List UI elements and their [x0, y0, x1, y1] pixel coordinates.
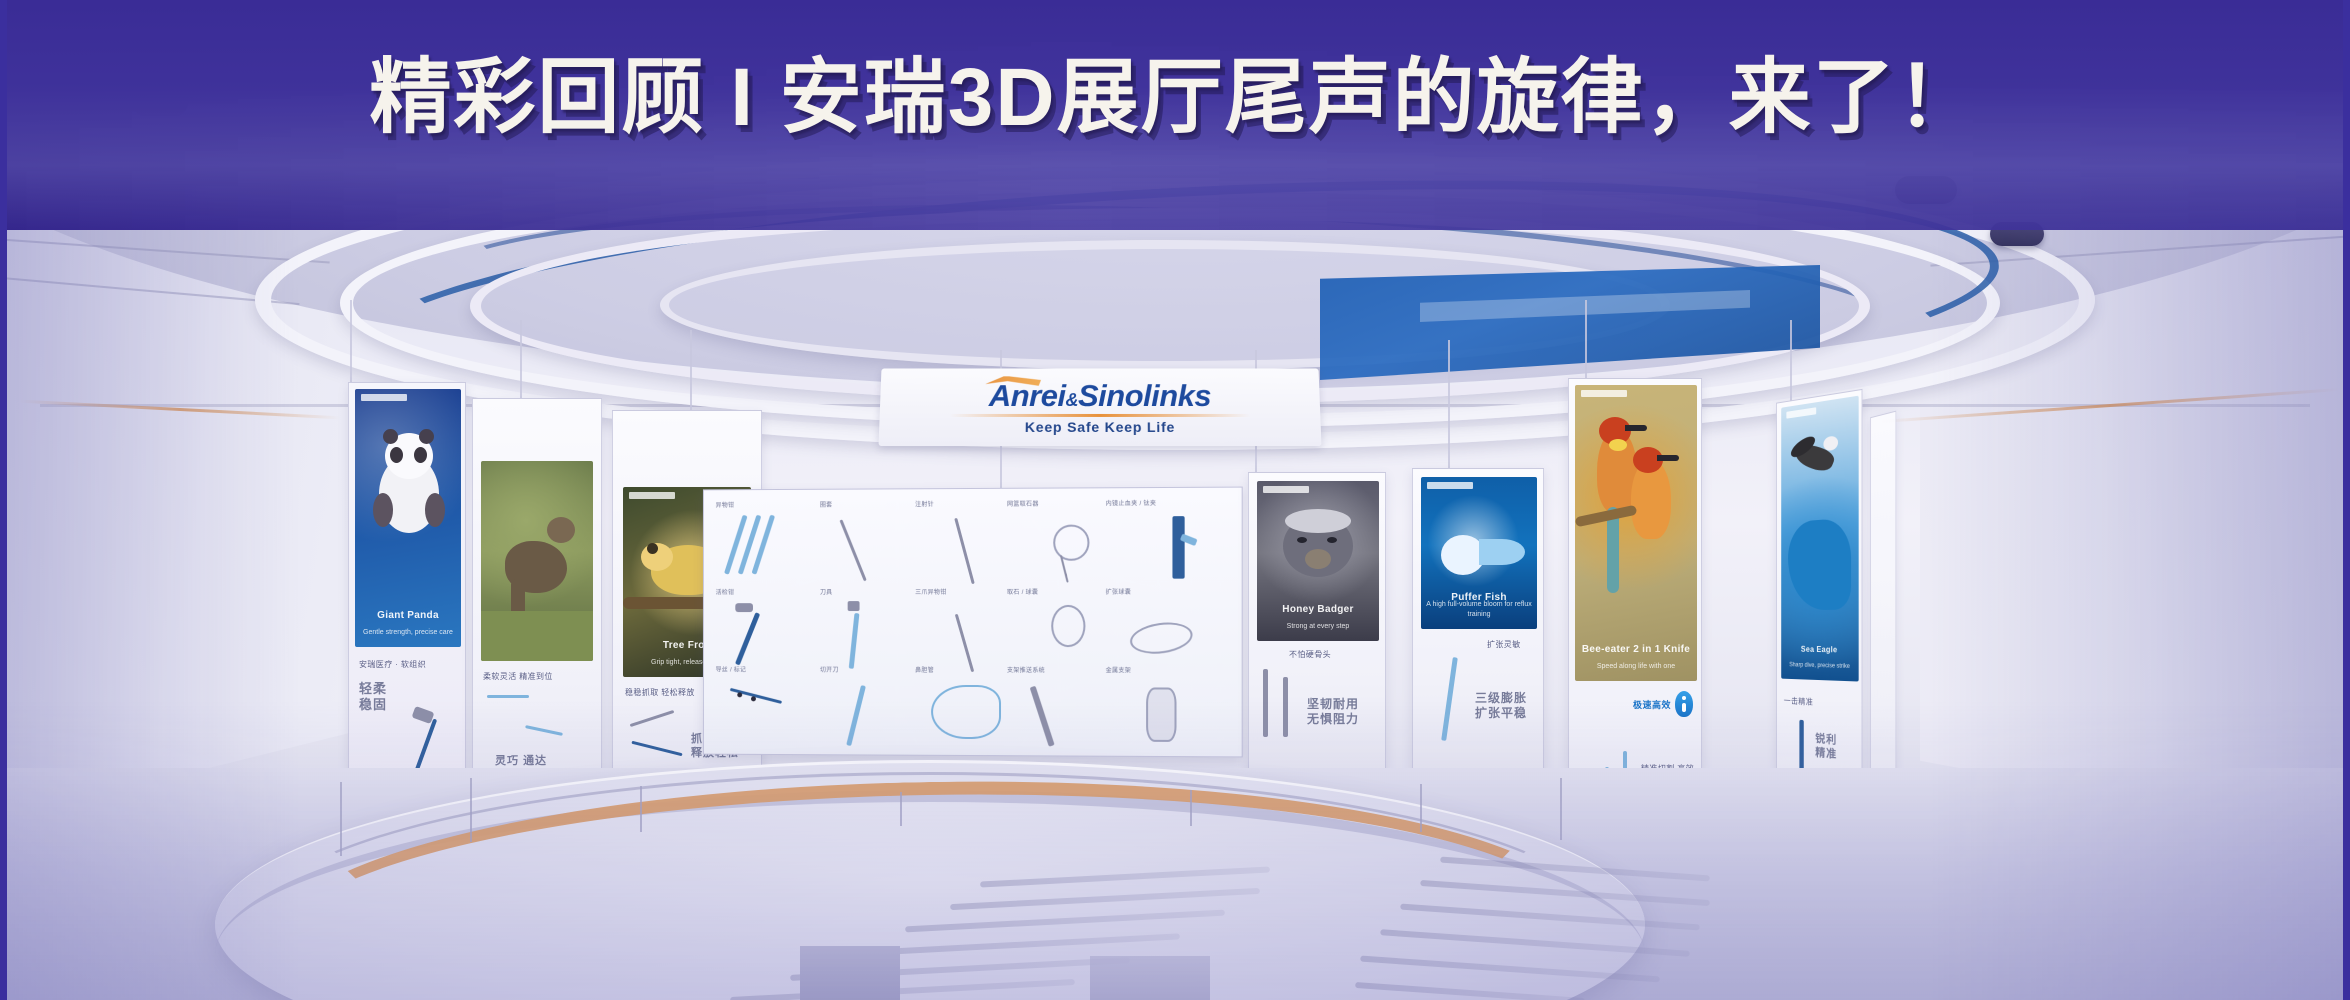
badger-eye-icon: [1297, 537, 1307, 543]
exhibit-panel-panda[interactable]: Giant Panda Gentle strength, precise car…: [348, 382, 466, 802]
product-label: 刀具: [820, 587, 832, 596]
instrument-marker-dot-icon: [737, 692, 742, 697]
poster-caption: 扩张灵敏: [1487, 639, 1521, 650]
kangaroo-head-shape: [547, 517, 575, 543]
product-label: 三爪异物钳: [915, 587, 946, 596]
instrument-probe-icon: [954, 518, 974, 584]
frame-edge-left: [0, 0, 7, 1000]
panda-ear-icon: [383, 429, 398, 444]
exhibit-panel-honey-badger[interactable]: Honey Badger Strong at every step 不怕硬骨头 …: [1248, 472, 1386, 774]
poster-caption: 一击精准: [1784, 695, 1813, 707]
exhibition-hall-banner-image: Anrei&Sinolinks Keep Safe Keep Life Gian…: [0, 0, 2350, 1000]
product-label: 圈套: [820, 500, 832, 509]
badger-eye-icon: [1327, 537, 1337, 543]
slogan-line-1: 灵巧: [495, 755, 519, 767]
poster-sea-eagle[interactable]: Sea Eagle Sharp dive, precise strike: [1781, 396, 1858, 682]
poster-slogan: 轻柔 稳固: [359, 681, 387, 714]
poster-panda[interactable]: Giant Panda Gentle strength, precise car…: [355, 389, 461, 647]
hanging-rod: [1448, 340, 1450, 470]
brand-name-ampersand: &: [1065, 390, 1078, 410]
bird-beak-icon: [1625, 425, 1647, 431]
eagle-splash-shape: [1788, 518, 1851, 611]
instrument-balloon-icon: [1128, 619, 1195, 658]
poster-caption: 柔软灵活 精准到位: [483, 671, 553, 682]
badger-snout-shape: [1305, 549, 1331, 569]
page-title: 精彩回顾 I 安瑞3D展厅尾声的旋律，来了！: [0, 30, 2350, 149]
panda-eye-icon: [390, 447, 403, 463]
poster-title: Sea Eagle: [1781, 645, 1858, 655]
rail-post: [900, 792, 902, 826]
product-label: 网篮取石器: [1007, 499, 1039, 508]
slogan-line-2: 稳固: [359, 697, 387, 712]
instrument-knife-tip-icon: [848, 601, 860, 611]
panda-eye-icon: [414, 447, 427, 463]
instrument-knife-shaft-icon: [849, 613, 860, 669]
panda-arm-shape: [373, 493, 393, 527]
slogan-line-2: 精准: [1815, 747, 1837, 761]
brand-name-second: Sinolinks: [1078, 378, 1211, 413]
rail-post: [470, 778, 472, 842]
poster-caption: 安瑞医疗 · 软组织: [359, 659, 426, 670]
poster-subtitle: Strong at every step: [1261, 622, 1375, 631]
instrument-forceps-shaft-icon: [735, 612, 760, 665]
product-label: 异物钳: [716, 500, 735, 509]
product-instrument-icon: [1283, 677, 1288, 737]
info-i-icon: [1675, 691, 1693, 717]
slogan-line-2: 通达: [523, 755, 547, 767]
poster-kangaroo[interactable]: [481, 461, 593, 661]
poster-brandmark: [361, 394, 407, 401]
slogan-line-2: 扩张平稳: [1475, 706, 1527, 720]
rail-post: [1190, 790, 1192, 826]
product-instrument-icon: [525, 725, 563, 736]
badger-crown-shape: [1285, 509, 1351, 533]
poster-brandmark: [1786, 407, 1816, 418]
poster-brandmark: [1263, 486, 1309, 493]
product-label: 导丝 / 标记: [716, 665, 747, 674]
product-instrument-icon: [1441, 657, 1458, 741]
poster-puffer-fish[interactable]: Puffer Fish A high full-volume bloom for…: [1421, 477, 1537, 629]
poster-title: Bee-eater 2 in 1 Knife: [1575, 644, 1697, 655]
poster-caption: 不怕硬骨头: [1289, 649, 1331, 660]
poster-title: Giant Panda: [355, 610, 461, 621]
slogan-line-1: 坚韧耐用: [1307, 697, 1359, 711]
product-instrument-icon: [487, 695, 529, 698]
poster-subtitle: Speed along life with one: [1579, 662, 1693, 671]
slogan-line-1: 三级膨胀: [1475, 691, 1527, 705]
brand-logo-wordmark: Anrei&Sinolinks: [989, 380, 1212, 411]
poster-slogan: 锐利 精准: [1815, 733, 1837, 762]
product-label: 鼻胆管: [915, 665, 934, 674]
slogan-line-2: 无惧阻力: [1307, 712, 1359, 726]
kangaroo-ground-shape: [481, 611, 593, 661]
product-label: 切开刀: [820, 665, 839, 674]
instrument-sphincterotome-icon: [846, 685, 866, 746]
bird-throat-shape: [1609, 439, 1627, 451]
poster-subtitle: Sharp dive, precise strike: [1785, 661, 1855, 671]
brand-logo-banner: Anrei&Sinolinks Keep Safe Keep Life: [878, 368, 1321, 446]
poster-brandmark: [629, 492, 675, 499]
poster-subtitle: A high full-volume bloom for reflux trai…: [1425, 600, 1533, 619]
mascot-badge: 极速高效: [1633, 691, 1693, 717]
frame-edge-right: [2343, 0, 2350, 1000]
product-instrument-icon: [630, 710, 675, 727]
product-instrument-icon: [631, 741, 682, 756]
instrument-marker-dot-icon: [751, 696, 756, 701]
poster-slogan: 坚韧耐用 无惧阻力: [1307, 697, 1359, 727]
rail-post: [1560, 778, 1562, 840]
poster-brandmark: [1581, 390, 1627, 397]
instrument-tripod-icon: [955, 614, 974, 673]
product-label: 内镜止血夹 / 钛夹: [1106, 498, 1157, 507]
poster-brandmark: [1427, 482, 1473, 489]
instrument-clip-icon: [1172, 516, 1184, 579]
panda-ear-icon: [419, 429, 434, 444]
rail-post: [340, 782, 342, 856]
poster-bee-eater[interactable]: Bee-eater 2 in 1 Knife Speed along life …: [1575, 385, 1697, 681]
puffer-tail-shape: [1479, 539, 1525, 565]
instrument-forceps-jaw-icon: [735, 603, 753, 612]
poster-slogan: 三级膨胀 扩张平稳: [1475, 691, 1527, 721]
product-label: 活检钳: [716, 587, 735, 596]
instrument-nasobiliary-tube-icon: [931, 685, 1001, 739]
product-label: 取石 / 球囊: [1007, 587, 1038, 596]
poster-caption: 稳稳抓取 轻松释放: [625, 687, 695, 698]
ceiling-speaker-icon: [1895, 176, 1957, 204]
floor-block: [1090, 956, 1210, 1000]
brand-tagline: Keep Safe Keep Life: [1025, 418, 1176, 434]
panda-arm-shape: [425, 493, 445, 527]
bird-beak-icon: [1657, 455, 1679, 461]
room-background: Anrei&Sinolinks Keep Safe Keep Life Gian…: [0, 0, 2350, 1000]
poster-title: Honey Badger: [1257, 604, 1379, 615]
product-catalog-wall[interactable]: 异物钳 圈套 注射针 网篮取石器 内镜止血夹 / 钛夹 活检钳 刀具 三爪异物钳…: [703, 487, 1243, 758]
rail-post: [1420, 784, 1422, 832]
product-instrument-icon: [1263, 669, 1268, 737]
frog-eye-icon: [647, 543, 658, 554]
product-label: 金属支架: [1106, 665, 1131, 674]
poster-slogan: 灵巧 通达: [495, 755, 547, 769]
slogan-line-1: 锐利: [1815, 733, 1837, 747]
product-instrument-head-icon: [412, 706, 435, 724]
product-label: 扩张球囊: [1106, 587, 1131, 596]
ceiling-speaker-icon: [1990, 222, 2044, 246]
product-label: 注射针: [915, 499, 934, 508]
instrument-basket-icon: [1051, 605, 1085, 647]
poster-subtitle: Gentle strength, precise care: [359, 628, 457, 637]
poster-honey-badger[interactable]: Honey Badger Strong at every step: [1257, 481, 1379, 641]
eagle-head-shape: [1823, 435, 1838, 451]
logo-underline: [950, 413, 1250, 416]
floor-block: [800, 946, 900, 1000]
instrument-stent-pusher-icon: [1030, 686, 1055, 747]
slogan-line-1: 轻柔: [359, 681, 387, 696]
exhibit-panel-puffer-fish[interactable]: Puffer Fish A high full-volume bloom for…: [1412, 468, 1544, 774]
instrument-needle-icon: [839, 519, 866, 581]
rail-post: [640, 786, 642, 832]
mascot-badge-label: 极速高效: [1633, 698, 1671, 711]
exhibit-panel-kangaroo[interactable]: 柔软灵活 精准到位 灵巧 通达: [472, 398, 602, 804]
instrument-metal-stent-icon: [1146, 687, 1176, 742]
product-label: 支架推送系统: [1007, 665, 1045, 674]
instrument-snare-loop-icon: [1053, 525, 1089, 561]
